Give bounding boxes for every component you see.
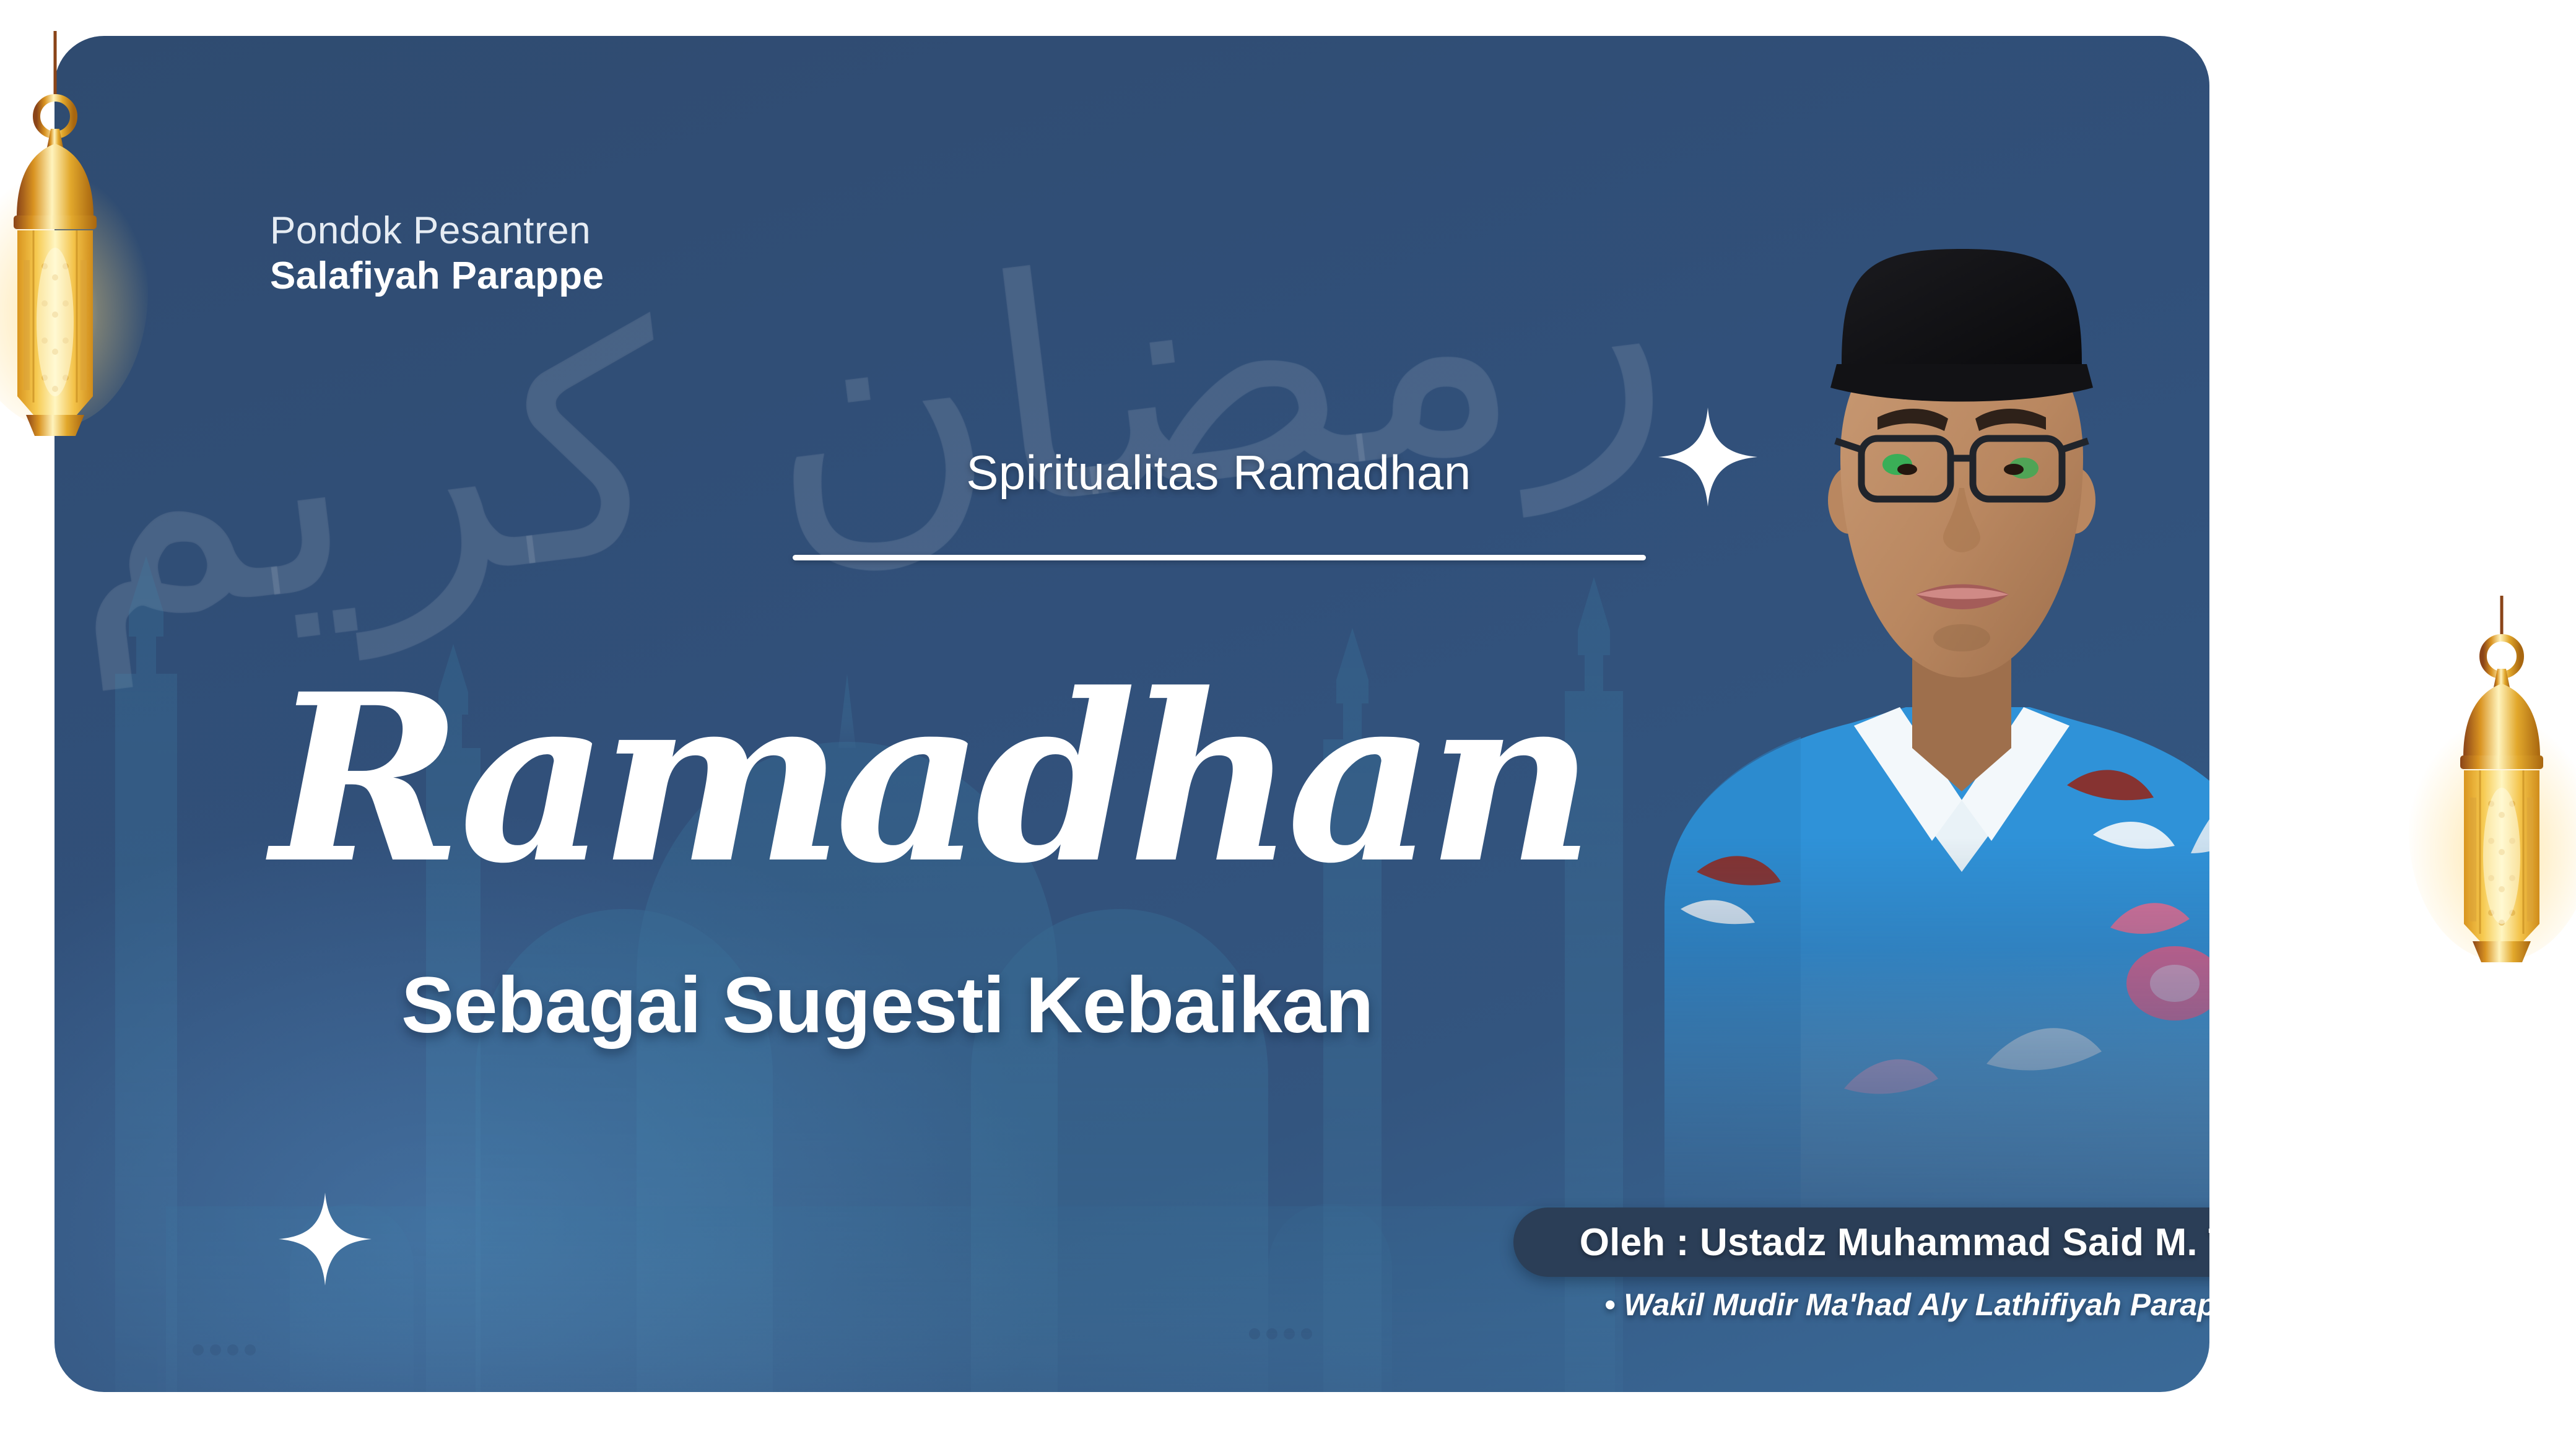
- speaker-name-badge: Oleh : Ustadz Muhammad Said M. Th.I: [1513, 1207, 2209, 1277]
- poster-card: رمضان كريم: [54, 36, 2209, 1392]
- hero-word: Ramadhan: [259, 612, 1658, 934]
- hero-word-text: Ramadhan: [264, 643, 1586, 914]
- speaker-name-label: Oleh : Ustadz Muhammad Said M. Th.I: [1580, 1221, 2209, 1264]
- poster-canvas: رمضان كريم: [0, 0, 2576, 1449]
- page-title: Spiritualitas Ramadhan: [791, 445, 1646, 501]
- speaker-photo: [1553, 178, 2209, 1243]
- title-divider: [793, 555, 1646, 560]
- lantern-icon: [2443, 596, 2561, 992]
- speaker-role-label: • Wakil Mudir Ma'had Aly Lathifiyah Para…: [1513, 1287, 2209, 1323]
- brand-block: Pondok Pesantren Salafiyah Parappe: [270, 208, 604, 298]
- brand-line-1: Pondok Pesantren: [270, 208, 604, 253]
- brand-line-2: Salafiyah Parappe: [270, 253, 604, 298]
